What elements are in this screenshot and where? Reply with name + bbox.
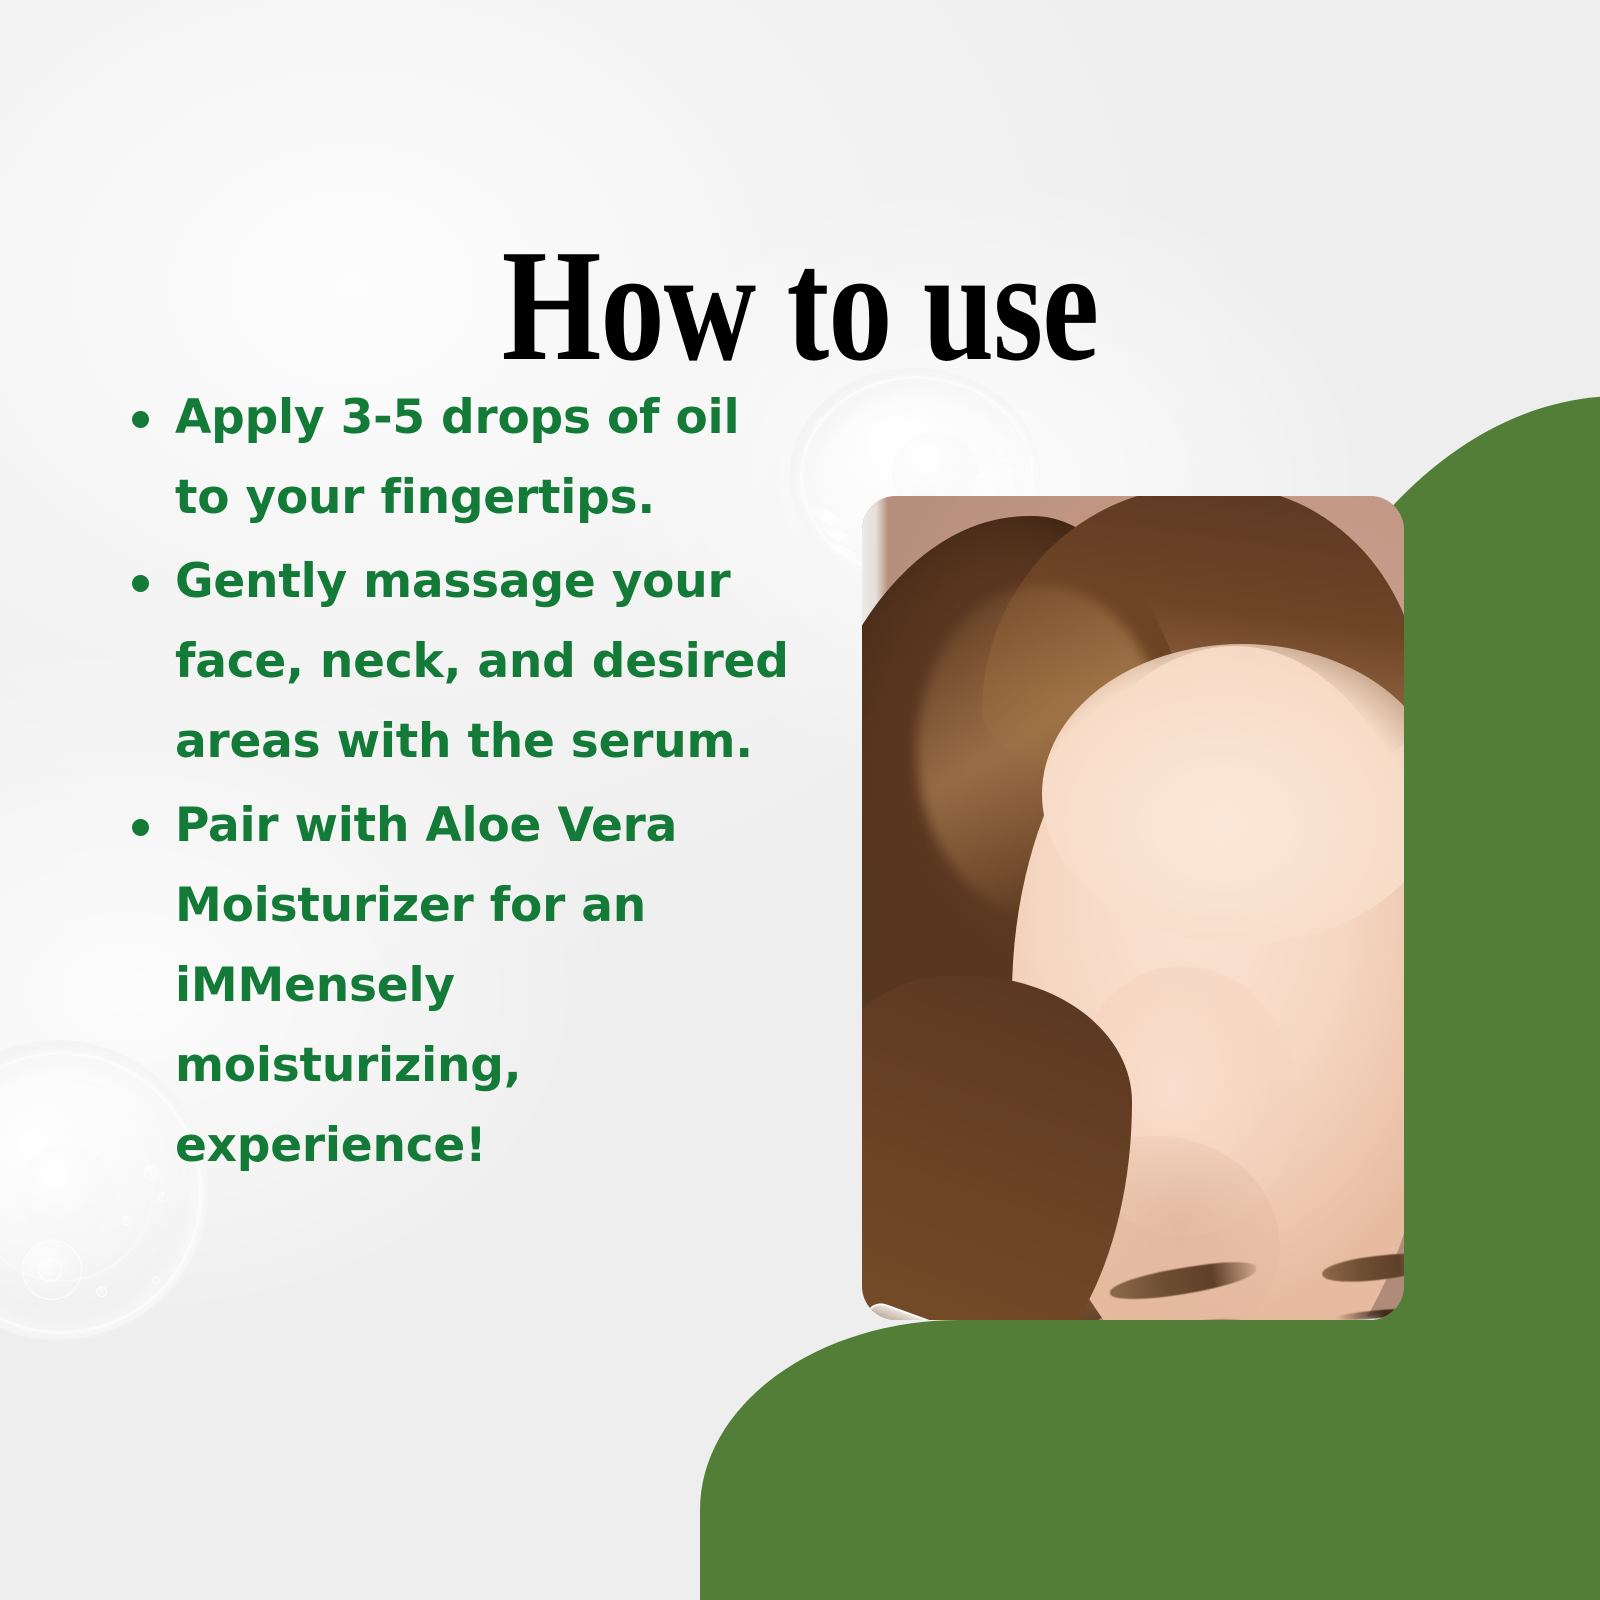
- poster-canvas: How to use Apply 3-5 drops of oil to you…: [0, 0, 1600, 1600]
- list-item-label: Apply 3-5 drops of oil to your fingertip…: [175, 390, 739, 525]
- bullet-icon: [132, 819, 149, 836]
- page-title: How to use: [160, 225, 1440, 385]
- hair-lower: [862, 976, 1132, 1320]
- list-item: Pair with Aloe Vera Moisturizer for an i…: [118, 786, 808, 1186]
- list-item: Gently massage your face, neck, and desi…: [118, 542, 808, 782]
- face-photo: [862, 496, 1404, 1320]
- list-item-label: Gently massage your face, neck, and desi…: [175, 554, 789, 769]
- bullet-icon: [132, 411, 149, 428]
- list-item: Apply 3-5 drops of oil to your fingertip…: [118, 378, 808, 538]
- bullet-icon: [132, 575, 149, 592]
- list-item-label: Pair with Aloe Vera Moisturizer for an i…: [175, 798, 677, 1173]
- how-to-use-list: Apply 3-5 drops of oil to your fingertip…: [118, 378, 808, 1190]
